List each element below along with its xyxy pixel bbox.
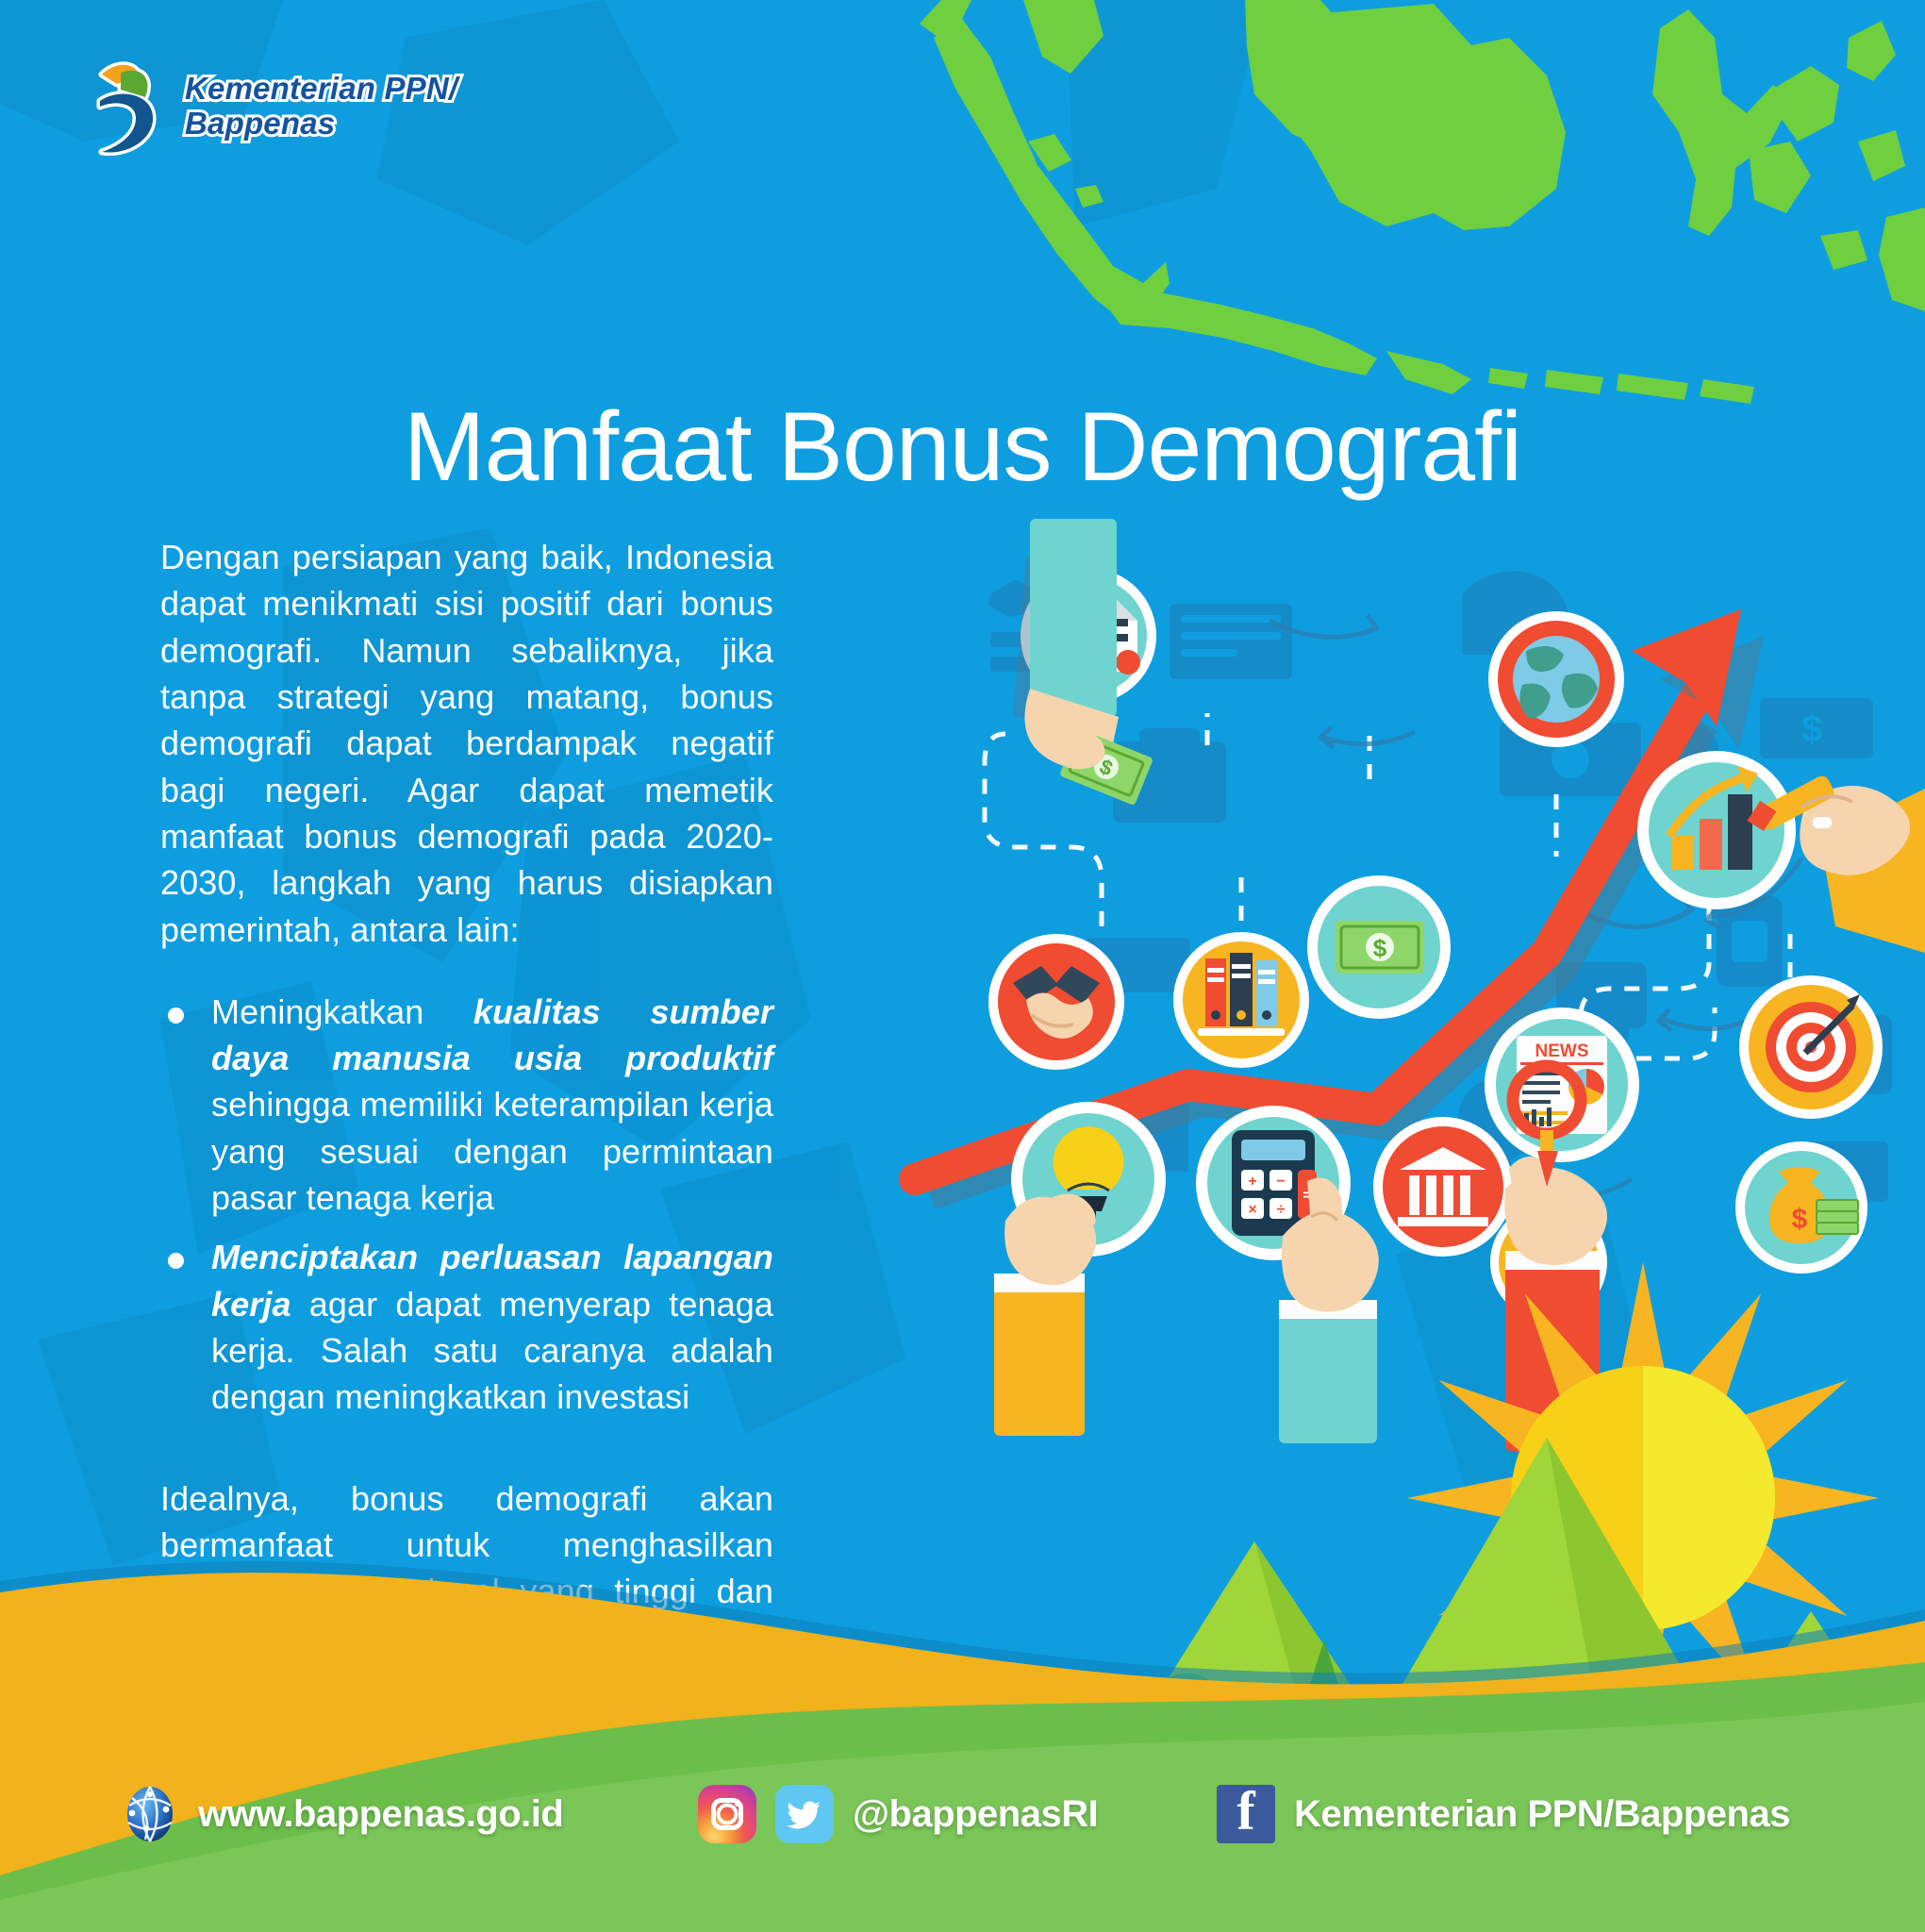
handshake-icon (988, 934, 1124, 1070)
bullet-0-post: sehingga memiliki keterampilan kerja yan… (211, 1085, 773, 1217)
spacer (160, 1434, 773, 1475)
instagram-icon[interactable] (698, 1785, 756, 1843)
infographic-poster: Kementerian PPN/ Bappenas Manfaat Bonus … (0, 0, 1925, 1932)
svg-text:÷: ÷ (1277, 1202, 1286, 1218)
content-column: Dengan persiapan yang baik, Indonesia da… (160, 534, 773, 1707)
footer-website[interactable]: www.bappenas.go.id (121, 1785, 563, 1843)
footer-bar: www.bappenas.go.id @bappenasRI f Kemente… (0, 1696, 1925, 1932)
news-label: NEWS (1535, 1041, 1589, 1061)
globe-network-icon (121, 1785, 179, 1843)
svg-text:$: $ (1792, 1204, 1808, 1235)
closing-paragraph: Idealnya, bonus demografi akan bermanfaa… (160, 1475, 773, 1708)
intro-paragraph: Dengan persiapan yang baik, Indonesia da… (160, 534, 773, 953)
bar-chart-growth-icon (1637, 751, 1796, 909)
bappenas-garuda-logo-icon (87, 52, 170, 160)
banknote-icon: $ (1307, 875, 1451, 1019)
footer-facebook[interactable]: f Kementerian PPN/Bappenas (1217, 1785, 1790, 1843)
svg-text:−: − (1276, 1174, 1285, 1190)
svg-text:$: $ (1801, 708, 1822, 750)
hand-holding-lightbulb (994, 1194, 1096, 1437)
target-dartboard-icon (1739, 975, 1883, 1119)
binders-folders-icon (1173, 932, 1309, 1068)
facebook-f-icon[interactable]: f (1217, 1785, 1275, 1843)
social-handle-label: @bappenasRI (853, 1793, 1098, 1836)
bank-building-icon (1373, 1117, 1513, 1257)
globe-icon (1488, 611, 1624, 747)
money-bag-icon: $ (1735, 1141, 1867, 1274)
logo-line-2: Bappenas (185, 107, 457, 141)
website-label: www.bappenas.go.id (198, 1793, 563, 1836)
business-network-illustration: $ $ (971, 557, 1925, 1330)
logo-text: Kementerian PPN/ Bappenas (185, 72, 457, 141)
footer-social[interactable]: @bappenasRI (698, 1785, 1098, 1843)
twitter-bird-icon[interactable] (775, 1785, 834, 1843)
bullet-1-post: agar dapat menyerap tenaga kerja. Salah … (211, 1285, 773, 1417)
svg-text:×: × (1248, 1202, 1256, 1218)
svg-text:+: + (1248, 1174, 1256, 1190)
svg-text:$: $ (1373, 934, 1387, 962)
list-item: Menciptakan perluasan lapangan kerja aga… (160, 1234, 773, 1420)
news-report-icon: NEWS (1485, 1008, 1639, 1162)
bappenas-logo: Kementerian PPN/ Bappenas (87, 52, 457, 160)
facebook-page-label: Kementerian PPN/Bappenas (1294, 1793, 1790, 1836)
steps-list: Meningkatkan kualitas sumber daya manusi… (160, 989, 773, 1421)
list-item: Meningkatkan kualitas sumber daya manusi… (160, 989, 773, 1222)
logo-line-1: Kementerian PPN/ (185, 72, 457, 106)
bullet-0-pre: Meningkatkan (211, 992, 473, 1031)
page-title: Manfaat Bonus Demografi (0, 398, 1925, 496)
